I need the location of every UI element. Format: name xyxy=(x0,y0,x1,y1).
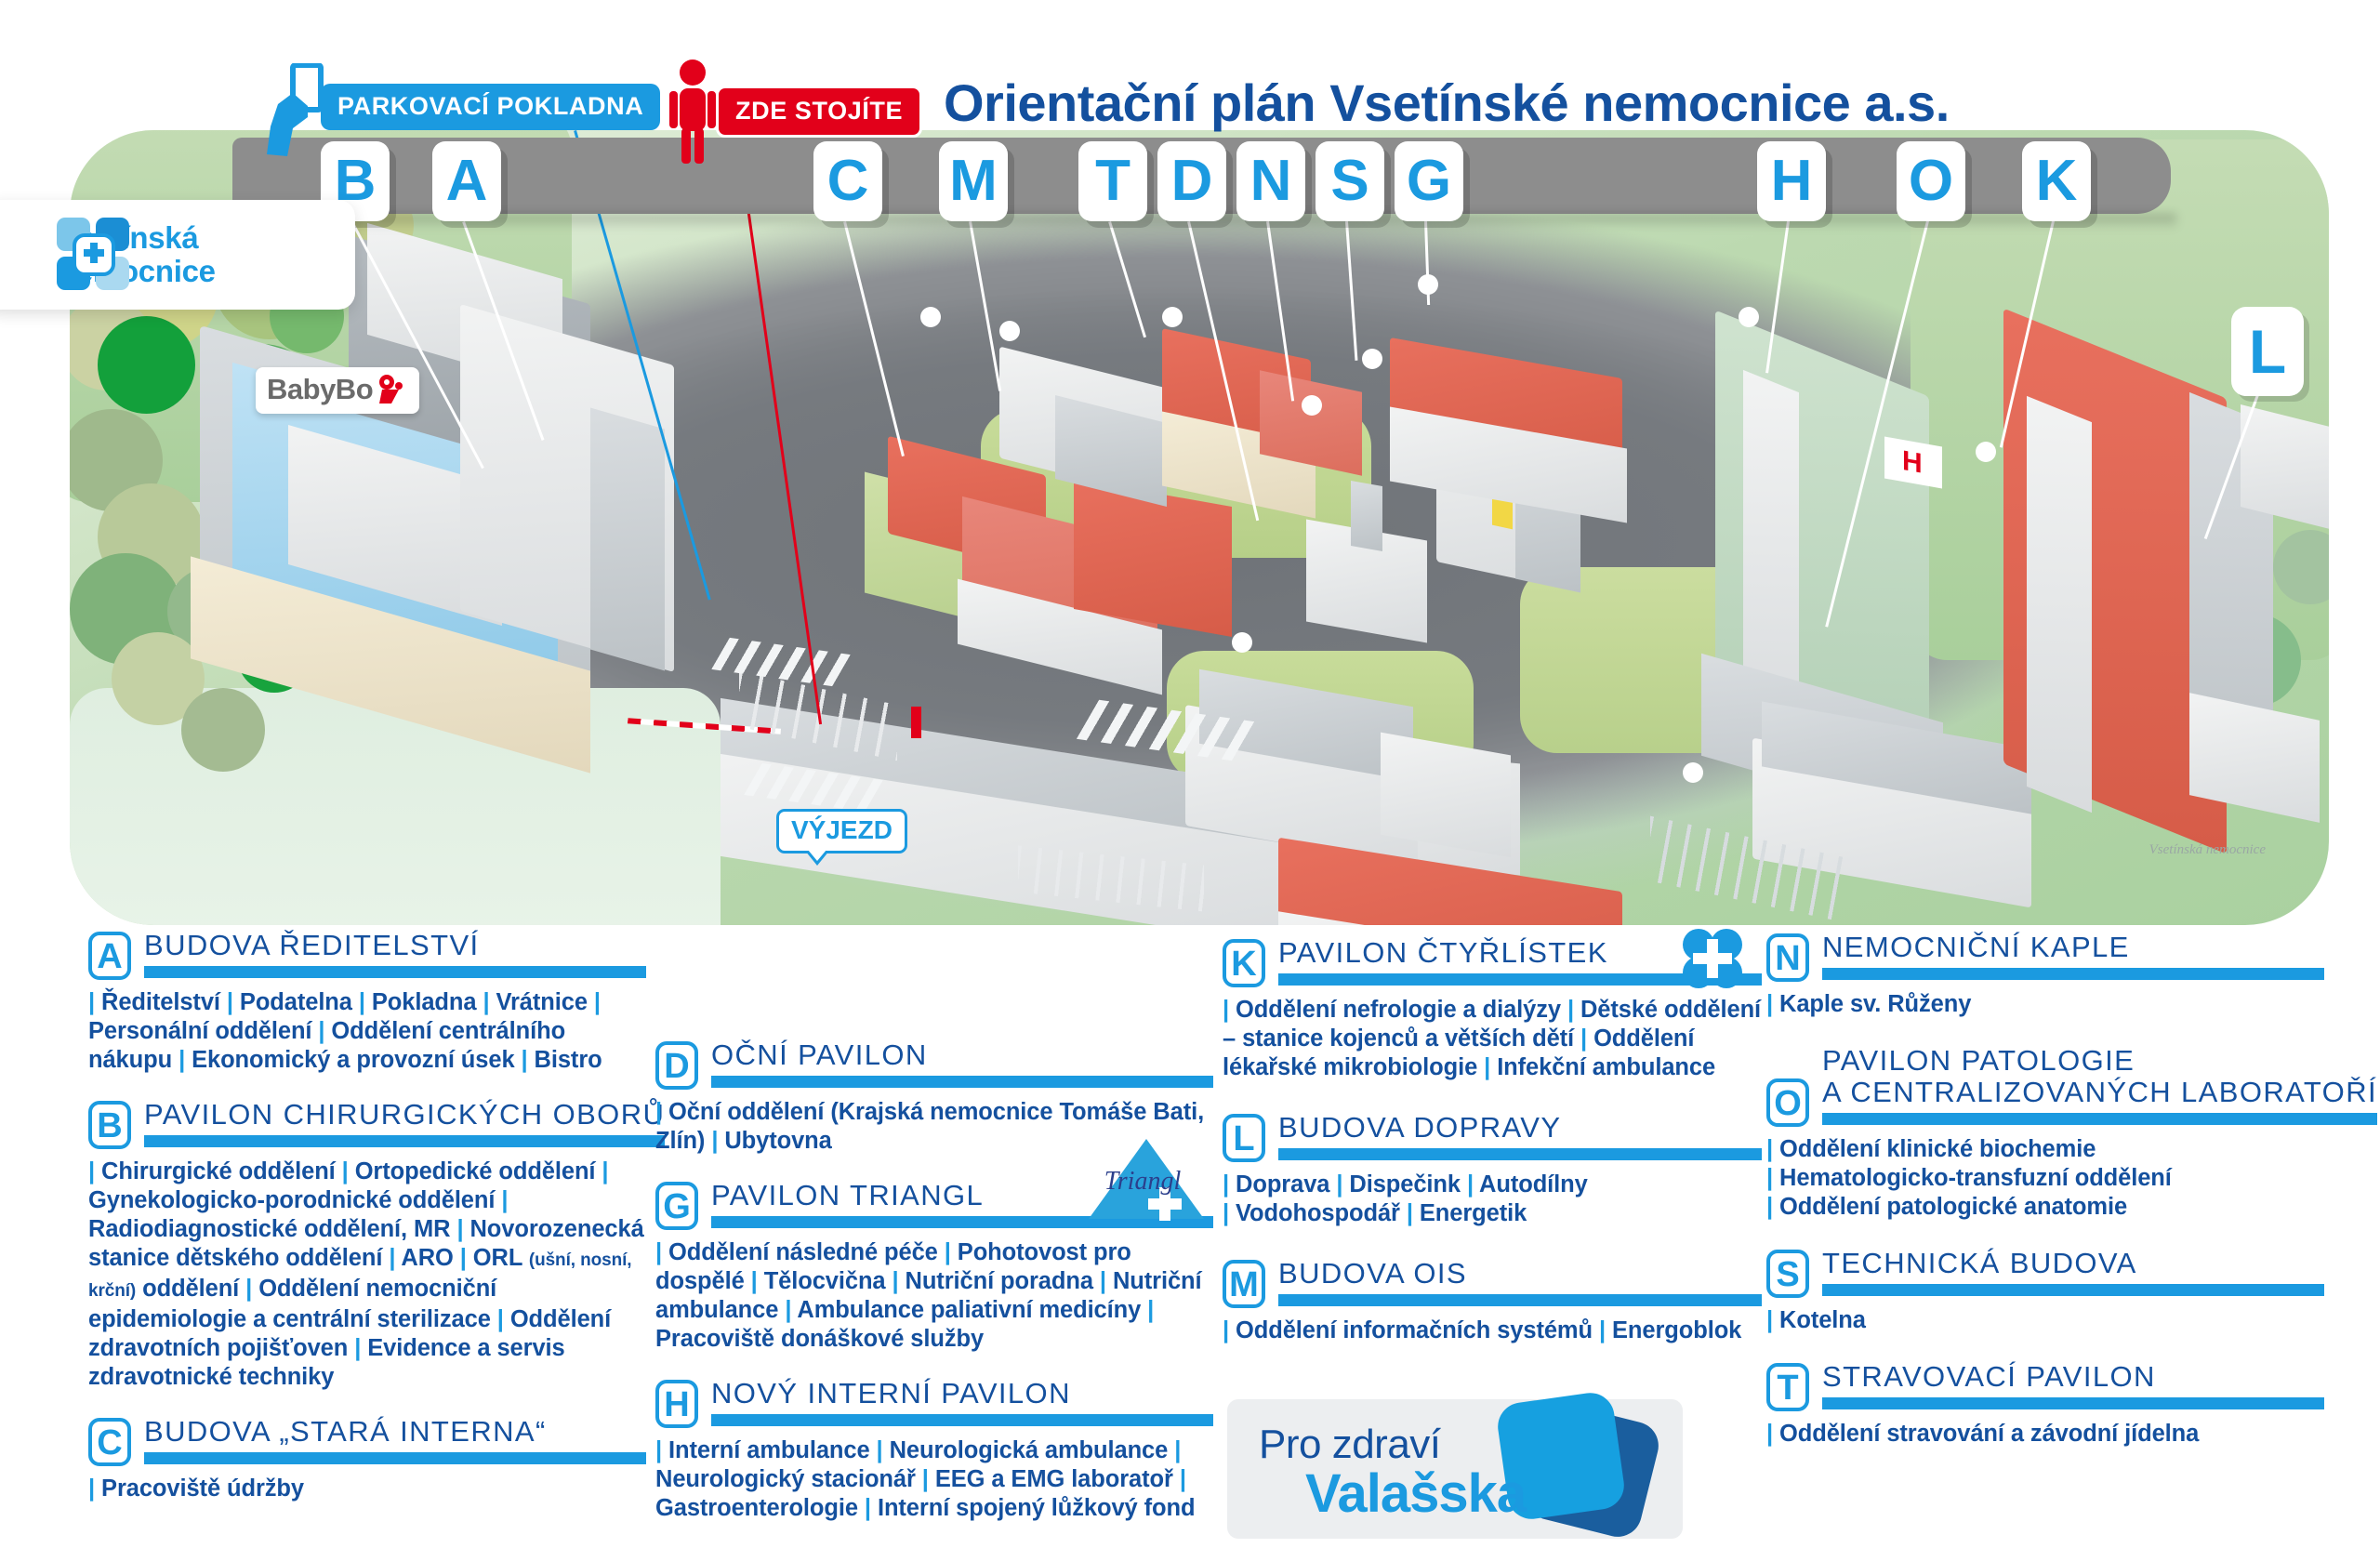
legend-title-N: NEMOCNIČNÍ KAPLE xyxy=(1822,932,2324,963)
map-marker-G[interactable]: G xyxy=(1395,141,1463,221)
leader-dot-H xyxy=(1739,307,1759,327)
legend-entry-C[interactable]: C BUDOVA „STARÁ INTERNA“ | Pracoviště úd… xyxy=(88,1416,646,1503)
legend-title-A: BUDOVA ŘEDITELSTVÍ xyxy=(144,930,646,961)
person-standing-icon xyxy=(668,58,718,165)
legend: A BUDOVA ŘEDITELSTVÍ | Ředitelství | Pod… xyxy=(0,930,2380,1548)
legend-entry-A[interactable]: A BUDOVA ŘEDITELSTVÍ | Ředitelství | Pod… xyxy=(88,930,646,1075)
legend-entry-S[interactable]: S TECHNICKÁ BUDOVA | Kotelna xyxy=(1766,1248,2324,1335)
footer-logo-line2: Valašska xyxy=(1305,1462,1526,1525)
building-A-side xyxy=(590,408,665,671)
legend-title-L: BUDOVA DOPRAVY xyxy=(1278,1112,1762,1144)
legend-entry-M[interactable]: M BUDOVA OIS | Oddělení informačních sys… xyxy=(1223,1258,1762,1345)
building-K-face xyxy=(2027,396,2092,813)
legend-rule-B xyxy=(144,1135,665,1147)
legend-mark-M: M xyxy=(1223,1260,1265,1308)
leader-dot-S xyxy=(1362,349,1382,369)
legend-column-1: A BUDOVA ŘEDITELSTVÍ | Ředitelství | Pod… xyxy=(88,930,646,1520)
legend-mark-K: K xyxy=(1223,939,1265,987)
tree xyxy=(98,316,195,414)
legend-column-4: N NEMOCNIČNÍ KAPLE | Kaple sv. Růženy O … xyxy=(1766,932,2324,1465)
triangl-logo-icon: Triangl xyxy=(1085,1135,1208,1224)
svg-text:Triangl: Triangl xyxy=(1104,1167,1182,1196)
map-marker-C[interactable]: C xyxy=(813,141,882,221)
legend-items-N: | Kaple sv. Růženy xyxy=(1766,990,2324,1019)
legend-rule-L xyxy=(1278,1148,1762,1160)
legend-title-M: BUDOVA OIS xyxy=(1278,1258,1762,1290)
legend-items-O: | Oddělení klinické biochemie | Hematolo… xyxy=(1766,1135,2324,1222)
legend-mark-G: G xyxy=(655,1182,698,1230)
map-marker-O[interactable]: O xyxy=(1897,141,1965,221)
legend-title-T: STRAVOVACÍ PAVILON xyxy=(1822,1361,2324,1393)
leader-dot-N xyxy=(1302,395,1322,416)
babybox-label: BabyBo xyxy=(267,373,373,406)
legend-items-K: | Oddělení nefrologie a dialýzy | Dětské… xyxy=(1223,996,1762,1082)
legend-rule-A xyxy=(144,966,646,978)
hospital-logo-icon xyxy=(56,217,132,293)
legend-title-B: PAVILON CHIRURGICKÝCH OBORŮ xyxy=(144,1099,665,1131)
map-marker-M[interactable]: M xyxy=(939,141,1008,221)
leader-dot-T xyxy=(1162,307,1183,327)
legend-items-G: | Oddělení následné péče | Pohotovost pr… xyxy=(655,1238,1213,1354)
hospital-logo-card: Vsetínská nemocnice xyxy=(0,200,355,310)
legend-items-M: | Oddělení informačních systémů | Energo… xyxy=(1223,1316,1762,1345)
legend-entry-B[interactable]: B PAVILON CHIRURGICKÝCH OBORŮ | Chirurgi… xyxy=(88,1099,646,1392)
babybox-badge: BabyBo xyxy=(256,367,419,414)
map-marker-S[interactable]: S xyxy=(1316,141,1384,221)
map-marker-A[interactable]: A xyxy=(432,141,501,221)
legend-title-C: BUDOVA „STARÁ INTERNA“ xyxy=(144,1416,646,1448)
legend-items-T: | Oddělení stravování a závodní jídelna xyxy=(1766,1420,2324,1449)
legend-items-C: | Pracoviště údržby xyxy=(88,1475,646,1503)
legend-entry-N[interactable]: N NEMOCNIČNÍ KAPLE | Kaple sv. Růženy xyxy=(1766,932,2324,1019)
legend-entry-O[interactable]: O PAVILON PATOLOGIE A CENTRALIZOVANÝCH L… xyxy=(1766,1045,2324,1222)
parking-meter-icon xyxy=(265,63,330,161)
babybox-icon xyxy=(377,374,408,405)
leader-dot-G xyxy=(1418,274,1438,295)
map-marker-L[interactable]: L xyxy=(2231,307,2304,396)
legend-title-S: TECHNICKÁ BUDOVA xyxy=(1822,1248,2324,1279)
legend-mark-N: N xyxy=(1766,933,1809,982)
legend-items-L: | Doprava | Dispečink | Autodílny | Vodo… xyxy=(1223,1171,1762,1228)
map-label-exit: VÝJEZD xyxy=(776,809,907,853)
map-marker-N[interactable]: N xyxy=(1236,141,1305,221)
map-marker-H[interactable]: H xyxy=(1757,141,1826,221)
pro-zdravi-valasska-logo: Pro zdraví Valašska xyxy=(1227,1399,1683,1539)
legend-entry-H[interactable]: H NOVÝ INTERNÍ PAVILON | Interní ambulan… xyxy=(655,1378,1213,1523)
legend-title-O: PAVILON PATOLOGIE xyxy=(1822,1045,2377,1077)
orientation-map: H VÝJEZD VJEZD NEMOCNICE LÉKÁRNA Duo Vse… xyxy=(70,130,2329,925)
here-marker-dot xyxy=(911,707,921,738)
heliport-h-label: H xyxy=(1902,448,1923,478)
leader-dot-M xyxy=(999,321,1020,341)
legend-items-B: | Chirurgické oddělení | Ortopedické odd… xyxy=(88,1158,646,1392)
legend-rule-D xyxy=(711,1076,1213,1088)
legend-mark-T: T xyxy=(1766,1363,1809,1411)
legend-mark-D: D xyxy=(655,1041,698,1090)
legend-title-D: OČNÍ PAVILON xyxy=(711,1039,1213,1071)
legend-rule-S xyxy=(1822,1284,2324,1296)
legend-mark-B: B xyxy=(88,1101,131,1149)
legend-title-O-line2: A CENTRALIZOVANÝCH LABORATOŘÍ xyxy=(1822,1077,2377,1108)
legend-items-S: | Kotelna xyxy=(1766,1306,2324,1335)
legend-rule-H xyxy=(711,1414,1213,1426)
legend-column-3: K PAVILON ČTYŘLÍSTEK | Oddělení nefrolog… xyxy=(1223,937,1762,1362)
legend-title-H: NOVÝ INTERNÍ PAVILON xyxy=(711,1378,1213,1409)
leader-dot-D xyxy=(1232,632,1252,653)
map-signature: Vsetínská nemocnice xyxy=(2149,841,2266,858)
legend-entry-K[interactable]: K PAVILON ČTYŘLÍSTEK | Oddělení nefrolog… xyxy=(1223,937,1762,1082)
legend-rule-O xyxy=(1822,1113,2377,1125)
legend-entry-L[interactable]: L BUDOVA DOPRAVY | Doprava | Dispečink |… xyxy=(1223,1112,1762,1228)
legend-rule-T xyxy=(1822,1397,2324,1409)
legend-rule-N xyxy=(1822,968,2324,980)
legend-entry-T[interactable]: T STRAVOVACÍ PAVILON | Oddělení stravová… xyxy=(1766,1361,2324,1449)
parking-cashier-badge[interactable]: PARKOVACÍ POKLADNA xyxy=(321,84,660,130)
legend-mark-C: C xyxy=(88,1418,131,1466)
tree xyxy=(181,688,265,772)
legend-mark-O: O xyxy=(1766,1078,1809,1127)
leader-dot-K xyxy=(1976,442,1996,462)
legend-rule-C xyxy=(144,1452,646,1464)
legend-mark-H: H xyxy=(655,1380,698,1428)
leader-dot-O xyxy=(1683,762,1703,783)
legend-mark-A: A xyxy=(88,932,131,980)
legend-column-2: D OČNÍ PAVILON | Oční oddělení (Krajská … xyxy=(655,1039,1213,1540)
map-marker-T[interactable]: T xyxy=(1078,141,1147,221)
legend-entry-G[interactable]: G PAVILON TRIANGL Triangl | Oddělení nás… xyxy=(655,1180,1213,1354)
page-title: Orientační plán Vsetínské nemocnice a.s. xyxy=(944,73,1950,133)
legend-rule-M xyxy=(1278,1294,1762,1306)
footer-logo-line1: Pro zdraví xyxy=(1259,1422,1441,1468)
you-are-here-badge: ZDE STOJÍTE xyxy=(716,86,922,138)
legend-mark-L: L xyxy=(1223,1114,1265,1162)
building-N-spire xyxy=(1351,481,1382,551)
legend-items-A: | Ředitelství | Podatelna | Pokladna | V… xyxy=(88,988,646,1075)
leader-dot-C xyxy=(920,307,941,327)
map-marker-K[interactable]: K xyxy=(2022,141,2091,221)
map-marker-D[interactable]: D xyxy=(1157,141,1226,221)
legend-mark-S: S xyxy=(1766,1250,1809,1298)
clover-icon xyxy=(1678,924,1747,993)
legend-items-H: | Interní ambulance | Neurologická ambul… xyxy=(655,1436,1213,1523)
